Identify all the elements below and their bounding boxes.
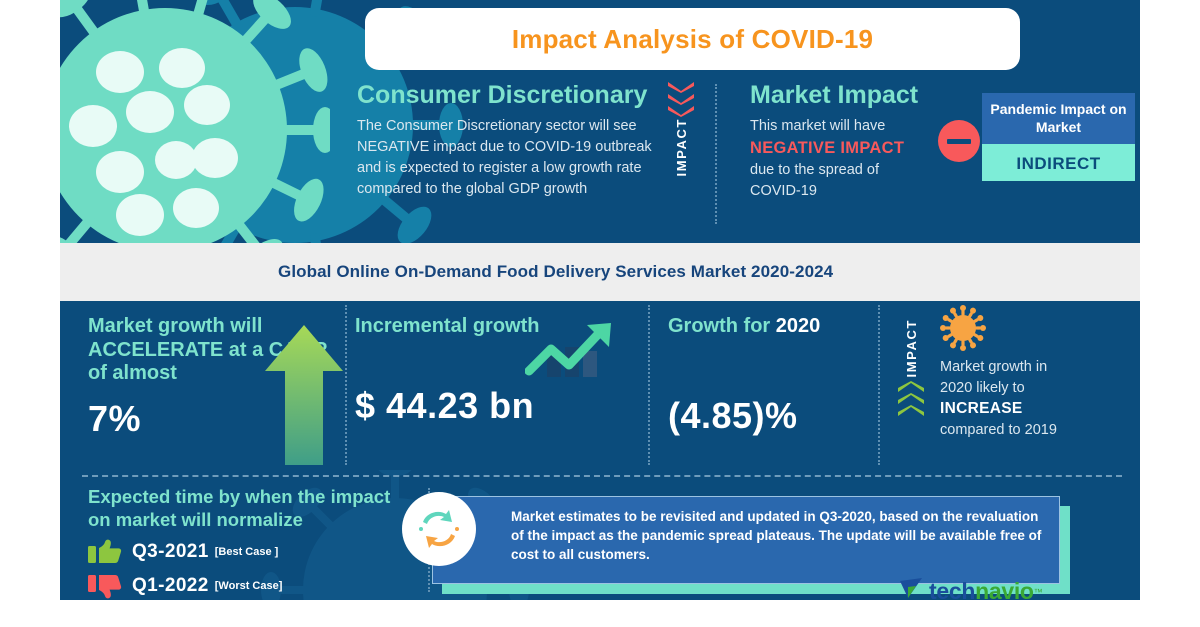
market-impact-line2: due to the spread of (750, 160, 990, 181)
impact-increase-highlight: INCREASE (940, 398, 1140, 420)
thumbs-up-icon (88, 539, 122, 565)
worst-case-quarter: Q1-2022 (132, 575, 209, 597)
infographic-canvas: Impact Analysis of COVID-19 Consumer Dis… (60, 0, 1140, 600)
pandemic-badge-heading: Pandemic Impact on Market (982, 93, 1135, 144)
logo-trademark: ™ (1034, 587, 1043, 597)
consumer-discretionary-block: Consumer Discretionary The Consumer Disc… (357, 82, 657, 200)
technavio-arrow-mark (900, 578, 924, 605)
title-panel: Impact Analysis of COVID-19 (365, 8, 1020, 70)
report-subtitle-band: Global Online On-Demand Food Delivery Se… (60, 243, 1140, 301)
refresh-cycle-icon (402, 492, 476, 566)
chevron-up-icon (898, 393, 924, 404)
metric-growth-2020: Growth for 2020 (4.85)% (668, 315, 928, 437)
logo-text-tech: tech (929, 578, 975, 605)
impact-label: IMPACT (674, 118, 689, 176)
logo-text-navio: navio (975, 578, 1034, 605)
market-impact-heading: Market Impact (750, 82, 990, 110)
chevron-up-icon (898, 405, 924, 416)
trending-up-chart-icon (525, 321, 620, 381)
divider-vertical (648, 305, 650, 465)
chevron-up-icon (898, 381, 924, 392)
normalize-heading: Expected time by when the impact on mark… (88, 486, 413, 531)
impact-increase-line3: compared to 2019 (940, 420, 1140, 441)
divider-vertical (715, 84, 717, 224)
technavio-logo: tech navio ™ (900, 578, 1043, 605)
pandemic-impact-badge: Pandemic Impact on Market INDIRECT (982, 93, 1135, 181)
chevron-down-icon (668, 82, 694, 93)
divider-horizontal (82, 475, 1122, 477)
note-text: Market estimates to be revisited and upd… (433, 497, 1059, 574)
metric-incremental-value: $ 44.23 bn (355, 385, 605, 427)
top-section: Consumer Discretionary The Consumer Disc… (60, 78, 1140, 236)
no-entry-icon (938, 120, 980, 162)
case-row-worst: Q1-2022 [Worst Case] (88, 573, 413, 599)
impact-increase-line2: 2020 likely to (940, 378, 1140, 399)
divider-vertical (878, 305, 880, 465)
chevron-down-icon (668, 106, 694, 117)
metric-growth-title-year: 2020 (776, 315, 821, 337)
up-arrow-icon (265, 325, 343, 465)
note-box: Market estimates to be revisited and upd… (432, 496, 1060, 584)
best-case-label: [Best Case ] (215, 546, 279, 558)
page-title: Impact Analysis of COVID-19 (512, 24, 873, 55)
divider-vertical (345, 305, 347, 465)
case-row-best: Q3-2021 [Best Case ] (88, 539, 413, 565)
consumer-body: The Consumer Discretionary sector will s… (357, 116, 657, 200)
impact-indicator-down: IMPACT (668, 82, 694, 176)
market-impact-line3: COVID-19 (750, 181, 990, 202)
metric-impact-increase: Market growth in 2020 likely to INCREASE… (940, 309, 1140, 441)
metric-growth-value: (4.85)% (668, 395, 928, 437)
impact-indicator-up: IMPACT (898, 319, 924, 417)
normalize-block: Expected time by when the impact on mark… (88, 486, 413, 599)
metrics-section: Market growth will ACCELERATE at a CAGR … (60, 301, 1140, 476)
chevron-down-icon (668, 94, 694, 105)
impact-label: IMPACT (904, 319, 919, 377)
pandemic-badge-value: INDIRECT (982, 144, 1135, 181)
report-title: Global Online On-Demand Food Delivery Se… (60, 262, 833, 282)
worst-case-label: [Worst Case] (215, 580, 283, 592)
thumbs-down-icon (88, 573, 122, 599)
best-case-quarter: Q3-2021 (132, 541, 209, 563)
consumer-heading: Consumer Discretionary (357, 82, 657, 110)
metric-growth-title-mint: Growth for (668, 315, 770, 337)
impact-increase-line1: Market growth in (940, 357, 1140, 378)
no-entry-bar (947, 139, 971, 144)
